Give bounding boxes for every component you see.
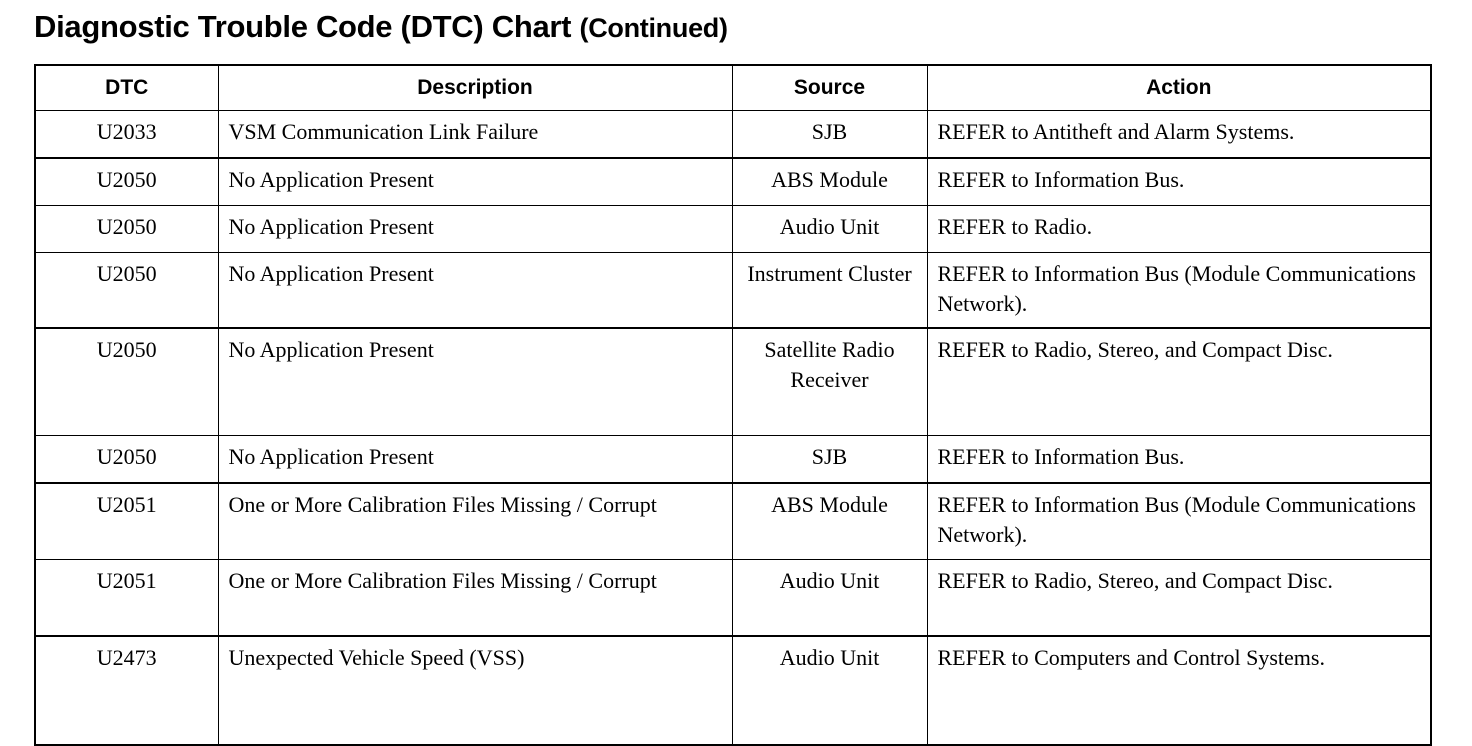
cell-action: REFER to Antitheft and Alarm Systems.: [927, 111, 1431, 159]
cell-action: REFER to Information Bus (Module Communi…: [927, 483, 1431, 560]
table-row: U2050 No Application Present ABS Module …: [35, 158, 1431, 206]
cell-dtc: U2033: [35, 111, 218, 159]
cell-dtc: U2050: [35, 206, 218, 253]
cell-source: ABS Module: [732, 483, 927, 560]
column-header-action: Action: [927, 65, 1431, 111]
cell-description: No Application Present: [218, 328, 732, 436]
table-row: U2051 One or More Calibration Files Miss…: [35, 560, 1431, 637]
document-page: Diagnostic Trouble Code (DTC) Chart (Con…: [0, 0, 1472, 738]
cell-action: REFER to Radio.: [927, 206, 1431, 253]
cell-description: No Application Present: [218, 206, 732, 253]
table-header-row: DTC Description Source Action: [35, 65, 1431, 111]
column-header-dtc: DTC: [35, 65, 218, 111]
cell-source: Satellite Radio Receiver: [732, 328, 927, 436]
dtc-chart-table: DTC Description Source Action U2033 VSM …: [34, 64, 1432, 746]
page-title-main: Diagnostic Trouble Code (DTC) Chart: [34, 9, 571, 44]
cell-description: One or More Calibration Files Missing / …: [218, 560, 732, 637]
cell-action: REFER to Radio, Stereo, and Compact Disc…: [927, 560, 1431, 637]
cell-dtc: U2050: [35, 328, 218, 436]
cell-source: ABS Module: [732, 158, 927, 206]
table-row: U2050 No Application Present Audio Unit …: [35, 206, 1431, 253]
cell-source: Audio Unit: [732, 636, 927, 745]
cell-dtc: U2051: [35, 483, 218, 560]
cell-action: REFER to Information Bus.: [927, 158, 1431, 206]
cell-dtc: U2050: [35, 158, 218, 206]
cell-description: VSM Communication Link Failure: [218, 111, 732, 159]
cell-description: No Application Present: [218, 158, 732, 206]
table-row: U2050 No Application Present Instrument …: [35, 253, 1431, 329]
table-row: U2050 No Application Present SJB REFER t…: [35, 436, 1431, 484]
table-row: U2050 No Application Present Satellite R…: [35, 328, 1431, 436]
table-row: U2033 VSM Communication Link Failure SJB…: [35, 111, 1431, 159]
cell-description: No Application Present: [218, 253, 732, 329]
cell-action: REFER to Information Bus (Module Communi…: [927, 253, 1431, 329]
cell-dtc: U2050: [35, 253, 218, 329]
cell-description: No Application Present: [218, 436, 732, 484]
page-title: Diagnostic Trouble Code (DTC) Chart (Con…: [34, 8, 728, 47]
cell-description: One or More Calibration Files Missing / …: [218, 483, 732, 560]
cell-dtc: U2051: [35, 560, 218, 637]
page-title-continued: (Continued): [580, 13, 728, 43]
cell-dtc: U2050: [35, 436, 218, 484]
cell-action: REFER to Computers and Control Systems.: [927, 636, 1431, 745]
table-row: U2051 One or More Calibration Files Miss…: [35, 483, 1431, 560]
column-header-description: Description: [218, 65, 732, 111]
cell-source: Audio Unit: [732, 560, 927, 637]
cell-dtc: U2473: [35, 636, 218, 745]
cell-source: Instrument Cluster: [732, 253, 927, 329]
cell-source: Audio Unit: [732, 206, 927, 253]
cell-source: SJB: [732, 111, 927, 159]
table-body: U2033 VSM Communication Link Failure SJB…: [35, 111, 1431, 746]
cell-action: REFER to Information Bus.: [927, 436, 1431, 484]
cell-source: SJB: [732, 436, 927, 484]
cell-action: REFER to Radio, Stereo, and Compact Disc…: [927, 328, 1431, 436]
table-header: DTC Description Source Action: [35, 65, 1431, 111]
column-header-source: Source: [732, 65, 927, 111]
cell-description: Unexpected Vehicle Speed (VSS): [218, 636, 732, 745]
table-row: U2473 Unexpected Vehicle Speed (VSS) Aud…: [35, 636, 1431, 745]
